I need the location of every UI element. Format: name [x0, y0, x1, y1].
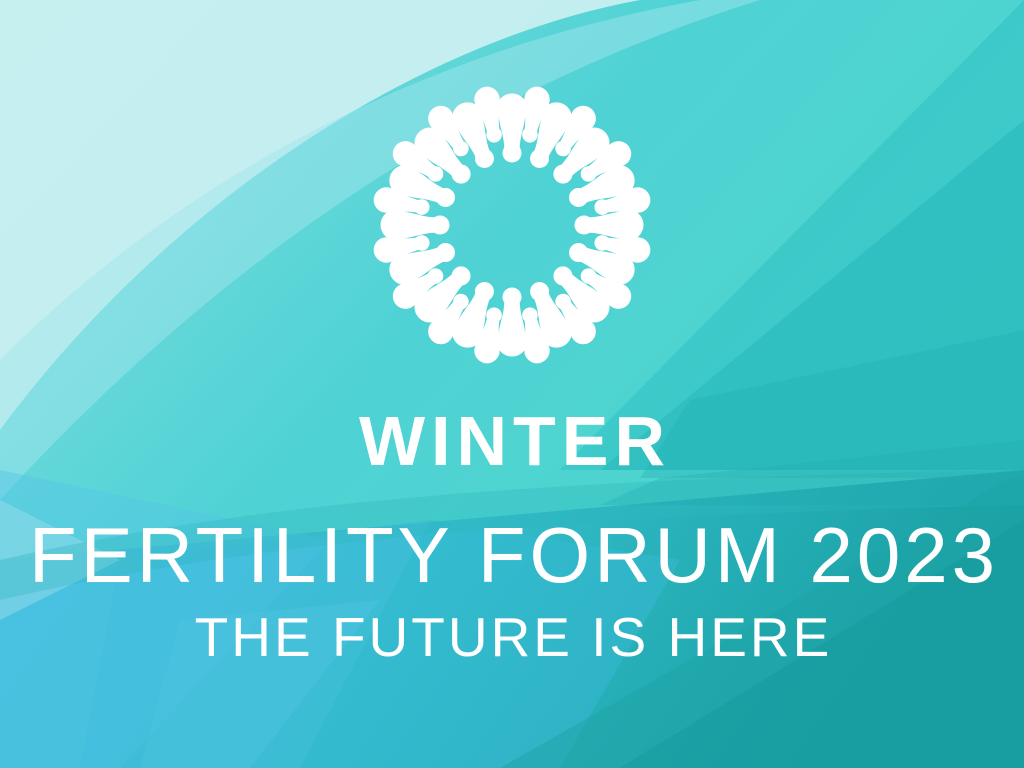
poster-content: WINTER FERTILITY FORUM 2023 THE FUTURE I… [0, 0, 1024, 768]
tagline: THE FUTURE IS HERE [0, 608, 1024, 666]
event-logo [367, 80, 657, 370]
event-poster: WINTER FERTILITY FORUM 2023 THE FUTURE I… [0, 0, 1024, 768]
page-title: FERTILITY FORUM 2023 [0, 514, 1024, 596]
radial-molecule-logo-icon [367, 80, 657, 370]
eyebrow-winter: WINTER [0, 406, 1024, 476]
